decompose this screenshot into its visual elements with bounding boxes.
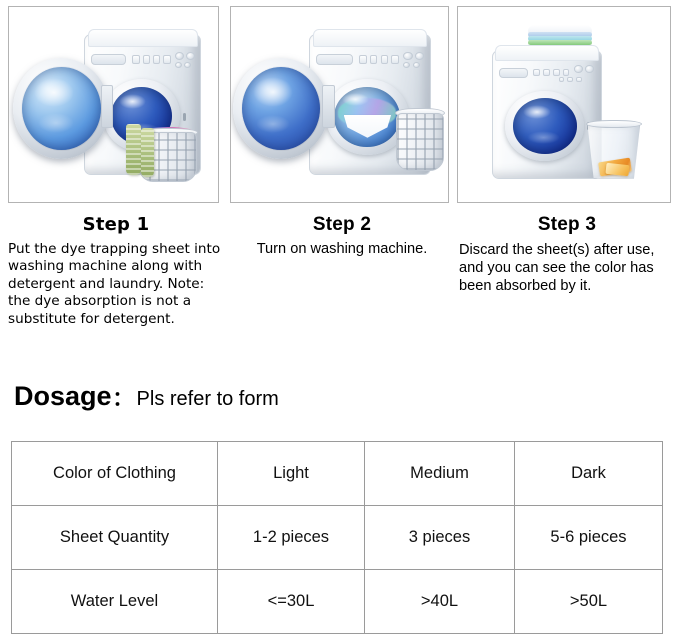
washing-machine-body: [492, 50, 602, 179]
table-cell: Color of Clothing: [12, 442, 218, 506]
control-dial: [403, 52, 413, 60]
table-cell: >50L: [515, 570, 663, 634]
display-screen: [316, 54, 352, 65]
door-hinge: [101, 85, 114, 128]
green-towel: [141, 128, 155, 177]
machine-top-lid: [495, 45, 599, 62]
door-glass-highlight: [253, 77, 294, 107]
control-dial: [186, 52, 195, 60]
program-button: [533, 69, 540, 76]
control-dial: [175, 62, 182, 68]
dosage-note: Pls refer to form: [134, 388, 279, 411]
table-cell: Medium: [365, 442, 515, 506]
step-3-image-panel: [457, 6, 671, 203]
step-2-body: Turn on washing machine.: [230, 241, 454, 259]
table-cell: Sheet Quantity: [12, 506, 218, 570]
table-cell: 3 pieces: [365, 506, 515, 570]
door-glass: [242, 67, 320, 150]
step-1-caption: Step 1 Put the dye trapping sheet into w…: [8, 206, 224, 328]
door-glass-highlight: [34, 78, 73, 106]
program-button: [559, 77, 565, 82]
drum-porthole: [505, 91, 584, 160]
open-door: [233, 58, 328, 159]
program-button: [381, 55, 388, 63]
table-cell: Light: [218, 442, 365, 506]
washing-machine-closed-with-folded-clothes-and-waste-bin-illustration: [458, 7, 670, 202]
step-captions: Step 1 Put the dye trapping sheet into w…: [0, 206, 679, 366]
drum-glass: [513, 98, 576, 154]
control-panel: [91, 50, 194, 74]
washing-machine-open-door-with-sheet-in-drum-illustration: [231, 7, 448, 202]
control-dial: [574, 65, 583, 72]
step-2-caption: Step 2 Turn on washing machine.: [230, 206, 454, 259]
step-1-body: Put the dye trapping sheet into washing …: [8, 241, 224, 328]
product-instruction-graphic: Step 1 Put the dye trapping sheet into w…: [0, 0, 679, 628]
step-2-image-panel: [230, 6, 449, 203]
table-cell: Water Level: [12, 570, 218, 634]
control-dial: [184, 62, 191, 68]
control-dial: [175, 52, 184, 60]
dye-trapping-sheet: [344, 115, 392, 138]
step-3-title: Step 3: [457, 212, 677, 238]
step-1-title: Step 1: [8, 212, 224, 238]
display-screen: [499, 68, 528, 78]
table-cell: 5-6 pieces: [515, 506, 663, 570]
step-3-caption: Step 3 Discard the sheet(s) after use, a…: [457, 206, 677, 295]
green-towel: [126, 124, 141, 175]
basket-weave: [396, 113, 444, 170]
door-glass-highlight: [256, 115, 290, 133]
table-row: Color of Clothing Light Medium Dark: [12, 442, 663, 506]
control-dial: [413, 62, 420, 68]
dosage-colon: ：: [112, 382, 134, 411]
glass-highlight: [119, 94, 146, 109]
door-glass: [22, 67, 101, 150]
machine-top-lid: [88, 29, 198, 47]
step-image-panels: [0, 0, 679, 206]
open-door: [13, 58, 109, 159]
dosage-heading: Dosage ： Pls refer to form: [14, 381, 279, 412]
step-1-image-panel: [8, 6, 219, 203]
control-dial: [403, 62, 410, 68]
program-button: [543, 69, 550, 76]
program-button: [132, 55, 139, 63]
door-hinge: [322, 85, 335, 128]
control-dial: [415, 52, 425, 60]
program-button: [567, 77, 573, 82]
glass-highlight: [342, 93, 368, 106]
program-button: [143, 55, 150, 63]
control-dial: [585, 65, 594, 72]
step-3-body: Discard the sheet(s) after use, and you …: [457, 241, 677, 295]
program-button: [359, 55, 366, 63]
display-screen: [91, 54, 126, 65]
table-cell: >40L: [365, 570, 515, 634]
program-button: [153, 55, 160, 63]
dosage-table-body: Color of Clothing Light Medium Dark Shee…: [12, 442, 663, 634]
dosage-label: Dosage: [14, 381, 112, 412]
table-cell: <=30L: [218, 570, 365, 634]
table-row: Water Level <=30L >40L >50L: [12, 570, 663, 634]
step-2-title: Step 2: [230, 212, 454, 238]
program-button: [163, 55, 170, 63]
program-button: [576, 77, 582, 82]
glass-highlight: [523, 105, 551, 119]
door-latch: [183, 113, 186, 121]
glass-highlight: [527, 131, 560, 143]
control-panel: [316, 50, 423, 74]
waste-bin: [587, 120, 640, 179]
program-button: [370, 55, 377, 63]
machine-top-lid: [313, 29, 427, 47]
program-button: [391, 55, 398, 63]
door-glass-highlight: [38, 113, 74, 133]
program-button: [553, 69, 560, 76]
washing-machine-open-door-with-laundry-basket-illustration: [9, 7, 218, 202]
control-panel: [499, 64, 596, 86]
table-cell: 1-2 pieces: [218, 506, 365, 570]
program-button: [563, 69, 570, 76]
table-cell: Dark: [515, 442, 663, 506]
table-row: Sheet Quantity 1-2 pieces 3 pieces 5-6 p…: [12, 506, 663, 570]
laundry-basket: [396, 108, 444, 170]
dosage-table: Color of Clothing Light Medium Dark Shee…: [11, 441, 663, 634]
bin-body: [587, 124, 640, 179]
